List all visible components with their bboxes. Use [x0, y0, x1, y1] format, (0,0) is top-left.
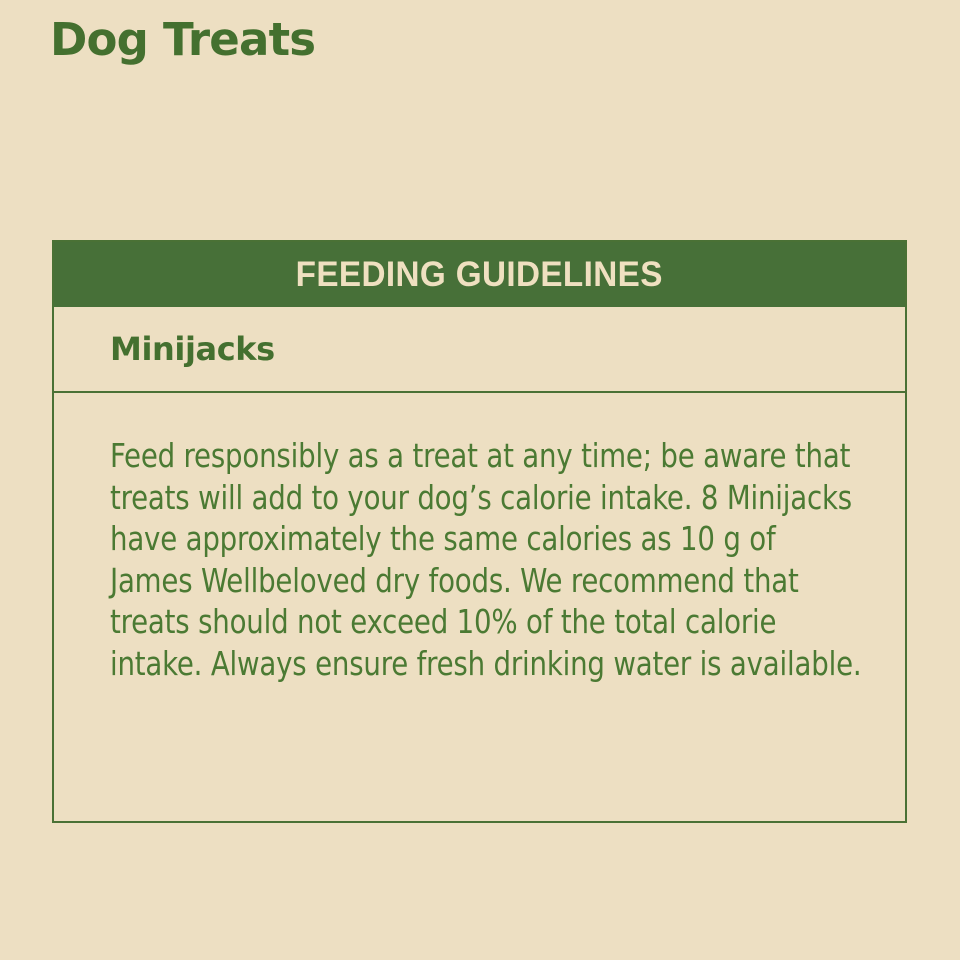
feeding-guidelines-header: FEEDING GUIDELINES	[54, 242, 905, 307]
page-title: Dog Treats	[50, 14, 315, 66]
product-name-label: Minijacks	[110, 330, 275, 368]
feeding-note-row: Feed responsibly as a treat at any time;…	[54, 393, 905, 684]
feeding-guidelines-table: FEEDING GUIDELINES Minijacks Feed respon…	[52, 240, 907, 823]
feeding-note-text: Feed responsibly as a treat at any time;…	[110, 435, 863, 684]
product-label-page: Dog Treats FEEDING GUIDELINES Minijacks …	[0, 0, 960, 960]
feeding-guidelines-header-label: FEEDING GUIDELINES	[296, 255, 663, 295]
product-name-row: Minijacks	[54, 307, 905, 393]
